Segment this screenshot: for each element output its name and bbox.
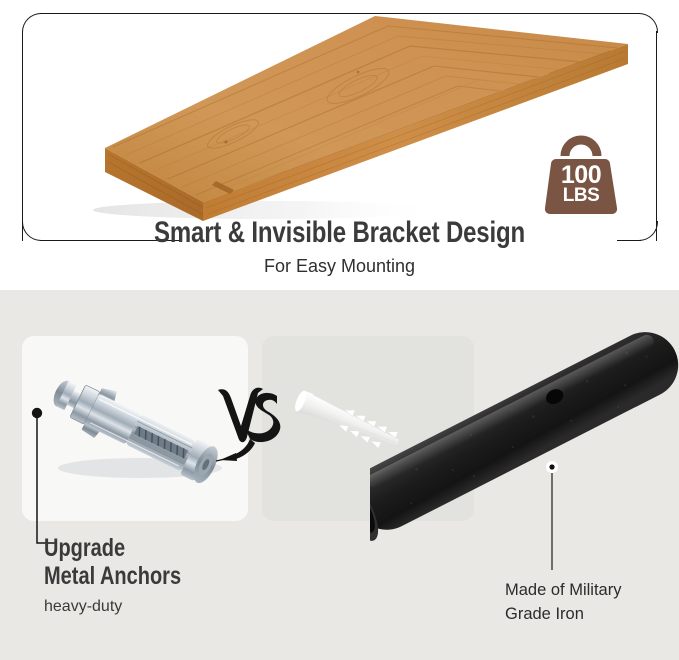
frame-corner-bottom-right <box>638 221 658 241</box>
frame-corner-top-left <box>22 13 42 33</box>
frame-corner-bottom-left <box>22 221 42 241</box>
frame-edge-bottom-right <box>617 240 641 241</box>
callout-left-text: Upgrade Metal Anchors heavy-duty <box>44 534 324 618</box>
product-feature-graphic: 100 LBS Smart & Invisible Bracket Design… <box>0 0 679 660</box>
page-headline: Smart & Invisible Bracket Design <box>68 216 611 250</box>
weight-badge-icon: 100 LBS <box>535 128 627 220</box>
callout-left-line2: Metal Anchors <box>44 562 268 590</box>
bracket-design-section: 100 LBS Smart & Invisible Bracket Design… <box>0 0 679 290</box>
versus-mark-icon <box>214 382 286 464</box>
callout-leader-left <box>30 405 60 555</box>
materials-section: Upgrade Metal Anchors heavy-duty Made of… <box>0 290 679 660</box>
frame-edge-right <box>656 31 657 241</box>
frame-edge-left <box>22 31 23 241</box>
callout-right-line1: Made of Military <box>505 578 679 602</box>
callout-right-line2: Grade Iron <box>505 602 679 626</box>
callout-left-line1: Upgrade <box>44 534 268 562</box>
callout-leader-right <box>545 460 559 572</box>
weight-badge-unit: LBS <box>535 186 627 205</box>
page-subheadline: For Easy Mounting <box>0 255 679 277</box>
metal-anchor-bolt-icon <box>32 364 242 504</box>
black-iron-rod <box>370 290 679 580</box>
callout-right-text: Made of Military Grade Iron <box>505 578 679 626</box>
callout-left-sub: heavy-duty <box>44 596 324 618</box>
frame-corner-top-right <box>638 13 658 33</box>
